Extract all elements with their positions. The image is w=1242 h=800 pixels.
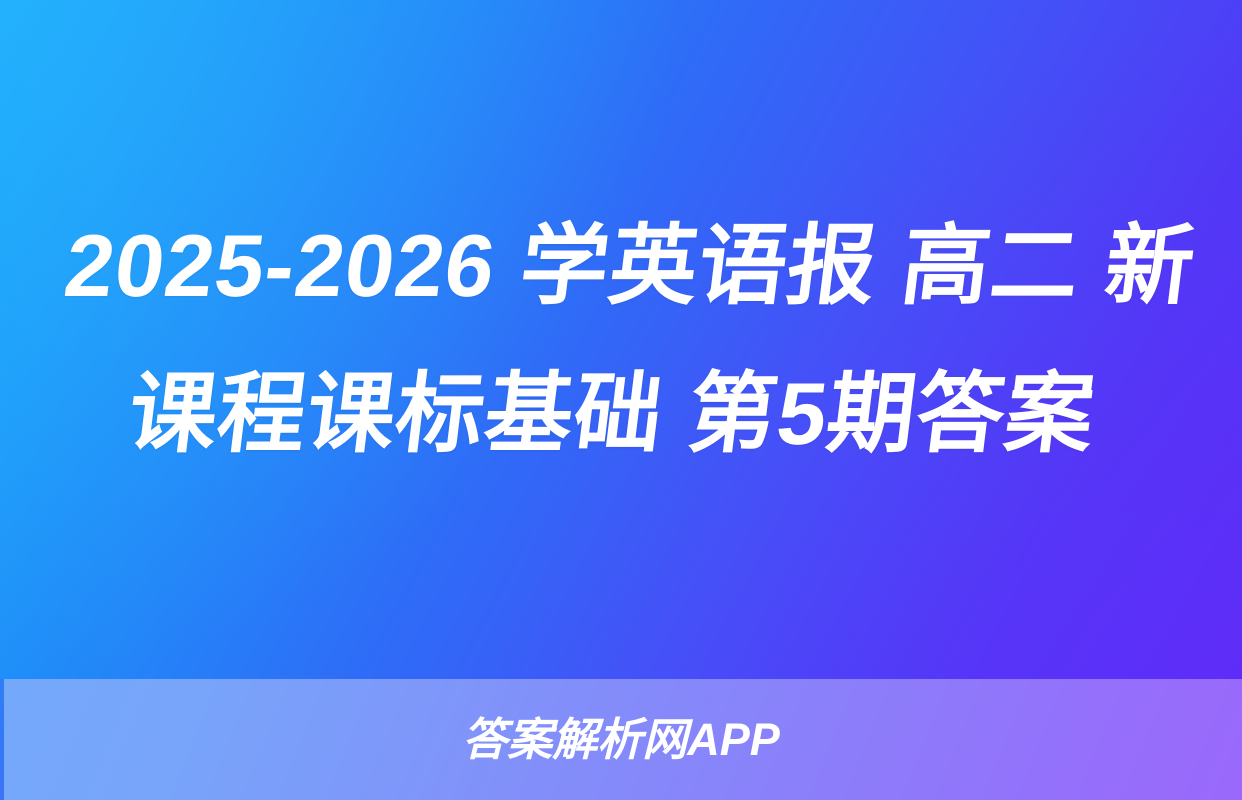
poster-canvas: 2025-2026 学英语报 高二 新课程课标基础 第5期答案 答案解析网APP [0,0,1242,800]
footer-content: 答案解析网APP [0,679,1242,800]
title-block: 2025-2026 学英语报 高二 新课程课标基础 第5期答案 [0,0,1242,679]
poster-title: 2025-2026 学英语报 高二 新课程课标基础 第5期答案 [22,192,1220,488]
app-brand-label: 答案解析网APP [462,717,780,762]
